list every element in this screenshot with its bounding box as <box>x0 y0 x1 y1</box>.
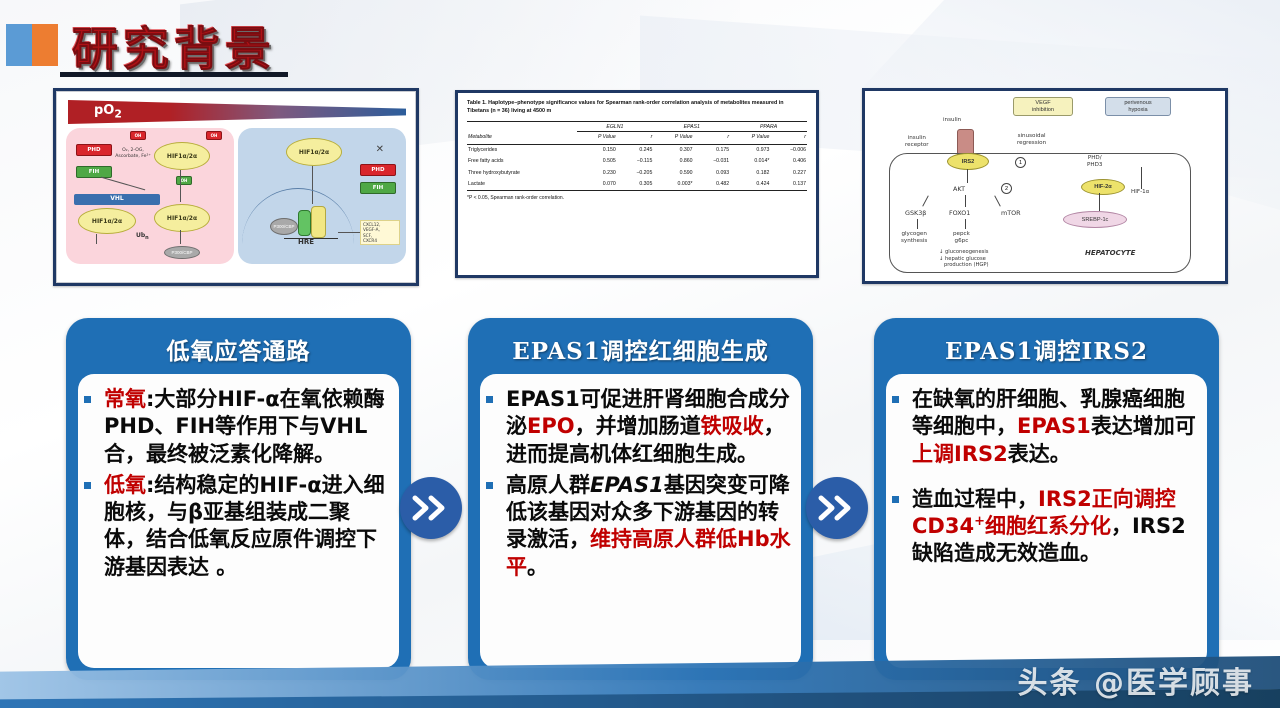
cell: 0.150 <box>577 144 617 156</box>
cell: 0.505 <box>577 156 617 167</box>
marker-1: 1 <box>1015 157 1026 168</box>
logo-orange-block <box>32 24 58 66</box>
table-group-header-row: EGLN1 EPAS1 PPARA <box>467 122 807 132</box>
ubn-label: Ubn <box>136 232 149 241</box>
bullet-gene-name: EPAS1 <box>590 473 664 497</box>
cell: 0.860 <box>653 156 693 167</box>
bullet-text: 表达增加可 <box>1091 414 1196 438</box>
spearman-table: EGLN1 EPAS1 PPARA Metabolite P Value r P… <box>467 121 807 191</box>
group-blank <box>467 122 577 132</box>
cell: 0.424 <box>730 179 770 191</box>
hif1b-cap <box>298 210 311 236</box>
cell: −0.205 <box>617 167 654 178</box>
figure-hepatocyte: VEGFinhibition perivenoushypoxia insulin… <box>862 88 1228 284</box>
arrow-degrade <box>96 234 97 244</box>
arrow-to-vhl <box>101 177 145 191</box>
perivenous-hypoxia-box: perivenoushypoxia <box>1105 97 1171 116</box>
slide-root: 研究背景 pO2 PHD FIH O₂, 2-OG,Ascorbate, Fe²… <box>0 0 1280 720</box>
cell: 0.245 <box>617 144 654 156</box>
glycogen-synthesis-label: glycogensynthesis <box>901 231 927 245</box>
inhibition-cross: ✕ <box>376 144 384 157</box>
cell: 0.482 <box>694 179 731 191</box>
hepatocyte-outline <box>889 153 1191 273</box>
insulin-receptor-label: insulinreceptor <box>905 135 929 149</box>
cell: 0.093 <box>694 167 731 178</box>
bullet-highlight: 细胞红系分化 <box>985 514 1111 538</box>
col-p3: P Value <box>730 132 770 144</box>
p300-cbp-oval: P300/CBP <box>270 218 298 235</box>
col-p1: P Value <box>577 132 617 144</box>
vhl-bar: VHL <box>74 194 160 205</box>
figure-row: pO2 PHD FIH O₂, 2-OG,Ascorbate, Fe²⁺ HIF… <box>0 88 1280 303</box>
fih-pill: FIH <box>76 166 112 178</box>
hif-oval-top: HIF1α/2α <box>154 142 210 170</box>
card-bullet: 在缺氧的肝细胞、乳腺癌细胞等细胞中，EPAS1表达增加可上调IRS2表达。 <box>896 386 1197 468</box>
hepatocyte-label: HEPATOCYTE <box>1085 249 1135 258</box>
title-underline-rule <box>60 72 288 77</box>
bullet-text: :结构稳定的HIF-α进入细胞核，与β亚基组装成二聚体，结合低氧反应原件调控下游… <box>104 473 385 579</box>
bullet-highlight: 常氧 <box>104 387 146 411</box>
card-bullet: 低氧:结构稳定的HIF-α进入细胞核，与β亚基组装成二聚体，结合低氧反应原件调控… <box>88 472 389 581</box>
cell: Triglycerides <box>467 144 577 156</box>
chevron-right-icon-1 <box>400 477 462 539</box>
arrow-down-mid-2 <box>180 230 181 244</box>
marker-2: 2 <box>1001 183 1012 194</box>
pepck-g6pc-label: pepckg6pc <box>953 231 970 245</box>
cell: Lactate <box>467 179 577 191</box>
group-egln1: EGLN1 <box>577 122 654 132</box>
hif1a-label: HIF-1α <box>1131 189 1149 196</box>
cell: −0.115 <box>617 156 654 167</box>
cell: 0.003* <box>653 179 693 191</box>
phd-phd3-label: PHD/PHD3 <box>1087 155 1102 169</box>
line-akt-foxo1 <box>965 195 966 207</box>
table-row: Lactate 0.070 0.305 0.003* 0.482 0.424 0… <box>467 179 807 191</box>
po2-label: pO2 <box>94 103 122 121</box>
cell: 0.307 <box>653 144 693 156</box>
card-hypoxia-response-pathway[interactable]: 低氧应答通路 常氧:大部分HIF-α在氧依赖酶PHD、FIH等作用下与VHL合，… <box>66 318 411 680</box>
cell: 0.230 <box>577 167 617 178</box>
irs2-oval: IRS2 <box>947 153 989 170</box>
logo-blue-block <box>6 24 32 66</box>
cell: 0.175 <box>694 144 731 156</box>
col-r3: r <box>770 132 807 144</box>
foxo1-label: FOXO1 <box>949 209 970 217</box>
hypoxia-panel: HIF1α/2α PHD FIH ✕ P300/CBP HRE CXCL12,V… <box>238 128 406 264</box>
table-row: Free fatty acids 0.505 −0.115 0.860 −0.0… <box>467 156 807 167</box>
page-title: 研究背景 <box>72 13 276 79</box>
card-bullet: EPAS1可促进肝肾细胞合成分泌EPO，并增加肠道铁吸收，进而提高机体红细胞生成… <box>490 386 791 468</box>
cell: 0.590 <box>653 167 693 178</box>
normoxia-panel: PHD FIH O₂, 2-OG,Ascorbate, Fe²⁺ HIF1α/2… <box>66 128 234 264</box>
logo <box>6 24 58 66</box>
bullet-highlight: 铁吸收 <box>701 414 764 438</box>
band-layer-3 <box>0 708 1280 720</box>
card-bullet: 常氧:大部分HIF-α在氧依赖酶PHD、FIH等作用下与VHL合，最终被泛素化降… <box>88 386 389 468</box>
vegf-inhibition-box: VEGFinhibition <box>1013 97 1073 116</box>
arrow-down-mid <box>180 170 181 202</box>
cell: 0.137 <box>770 179 807 191</box>
cell: 0.305 <box>617 179 654 191</box>
figure-hif-pathway: pO2 PHD FIH O₂, 2-OG,Ascorbate, Fe²⁺ HIF… <box>53 88 419 286</box>
bullet-text: 。 <box>527 555 548 579</box>
oh-tag-3: OH <box>176 176 192 185</box>
table-column-header-row: Metabolite P Value r P Value r P Value r <box>467 132 807 144</box>
line-phd-hif1a <box>1141 167 1142 189</box>
group-ppara: PPARA <box>730 122 807 132</box>
col-r1: r <box>617 132 654 144</box>
col-metabolite: Metabolite <box>467 132 577 144</box>
oh-tag-1: OH <box>130 131 146 140</box>
card-title: EPAS1调控IRS2 <box>874 318 1219 366</box>
po2-gradient-bar: pO2 <box>68 100 406 124</box>
bullet-text: 造血过程中， <box>912 487 1038 511</box>
srebp1c-oval: SREBP-1c <box>1063 211 1127 228</box>
cell: Free fatty acids <box>467 156 577 167</box>
bullet-text: ，并增加肠道 <box>575 414 701 438</box>
bullet-text: 表达。 <box>1008 442 1071 466</box>
cell: 0.070 <box>577 179 617 191</box>
cell: 0.182 <box>730 167 770 178</box>
hif2a-oval: HIF-2α <box>1081 179 1125 195</box>
sinusoidal-regression-label: sinusoidalregression <box>1017 133 1046 147</box>
cell: −0.006 <box>770 144 807 156</box>
cell: Three hydroxybutyrate <box>467 167 577 178</box>
card-title: 低氧应答通路 <box>66 318 411 366</box>
cell: 0.227 <box>770 167 807 178</box>
col-p2: P Value <box>653 132 693 144</box>
table-row: Three hydroxybutyrate 0.230 −0.205 0.590… <box>467 167 807 178</box>
bullet-highlight: EPAS1 <box>1017 414 1091 438</box>
card-body: 在缺氧的肝细胞、乳腺癌细胞等细胞中，EPAS1表达增加可上调IRS2表达。 造血… <box>886 374 1207 668</box>
hif-oval-hypoxia: HIF1α/2α <box>286 138 342 166</box>
table-title: Table 1. Haplotype–phenotype significanc… <box>467 100 807 115</box>
bullet-highlight: 上调IRS2 <box>912 442 1008 466</box>
phd-pill: PHD <box>76 144 112 156</box>
cell: 0.973 <box>730 144 770 156</box>
card-title: EPAS1调控红细胞生成 <box>468 318 813 366</box>
hif-oval-degraded: HIF1α/2α <box>78 208 136 234</box>
card-epas1-erythropoiesis[interactable]: EPAS1调控红细胞生成 EPAS1可促进肝肾细胞合成分泌EPO，并增加肠道铁吸… <box>468 318 813 680</box>
p300-cbp-oval-left: P300/CBP <box>164 246 200 259</box>
line-foxo1-pepck <box>965 219 966 229</box>
line-hif2a-srebp <box>1099 193 1100 211</box>
gluconeogenesis-label: ↓ gluconeogenesis↓ hepatic glucose produ… <box>939 249 989 269</box>
insulin-label: insulin <box>943 117 961 124</box>
arrow-to-targets <box>338 232 360 233</box>
line-irs2-akt <box>967 169 968 183</box>
bullet-superscript: + <box>974 514 985 529</box>
fih-pill-right: FIH <box>360 182 396 194</box>
cell: −0.031 <box>694 156 731 167</box>
card-bullet: 造血过程中，IRS2正向调控CD34+细胞红系分化，IRS2缺陷造成无效造血。 <box>896 486 1197 568</box>
gsk3b-label: GSK3β <box>905 209 926 217</box>
card-body: EPAS1可促进肝肾细胞合成分泌EPO，并增加肠道铁吸收，进而提高机体红细胞生成… <box>480 374 801 668</box>
group-epas1: EPAS1 <box>653 122 730 132</box>
hre-label: HRE <box>298 238 314 247</box>
card-body: 常氧:大部分HIF-α在氧依赖酶PHD、FIH等作用下与VHL合，最终被泛素化降… <box>78 374 399 668</box>
cell: 0.014* <box>730 156 770 167</box>
bullet-text: 高原人群 <box>506 473 590 497</box>
oh-tag-2: OH <box>206 131 222 140</box>
bullet-highlight: 低氧 <box>104 473 146 497</box>
akt-label: AKT <box>953 185 965 193</box>
card-bullet: 高原人群EPAS1基因突变可降低该基因对众多下游基因的转录激活，维持高原人群低H… <box>490 472 791 581</box>
table-footnote: *P < 0.05, Spearman rank-order correlati… <box>467 195 807 202</box>
watermark: 头条 @医学顾事 <box>1018 658 1254 702</box>
bullet-highlight: EPO <box>527 414 575 438</box>
bullet-text: :大部分HIF-α在氧依赖酶PHD、FIH等作用下与VHL合，最终被泛素化降解。 <box>104 387 385 466</box>
figure-spearman-table: Table 1. Haplotype–phenotype significanc… <box>455 90 819 278</box>
hif-alpha-cap <box>311 206 326 238</box>
line-gsk3b-glycogen <box>917 219 918 229</box>
table-row: Triglycerides 0.150 0.245 0.307 0.175 0.… <box>467 144 807 156</box>
phd-pill-right: PHD <box>360 164 396 176</box>
chevron-right-icon-2 <box>806 477 868 539</box>
cofactor-label: O₂, 2-OG,Ascorbate, Fe²⁺ <box>112 148 154 159</box>
cell: 0.406 <box>770 156 807 167</box>
hif-oval-mid: HIF1α/2α <box>154 204 210 232</box>
mtor-label: mTOR <box>1001 209 1021 217</box>
card-epas1-irs2[interactable]: EPAS1调控IRS2 在缺氧的肝细胞、乳腺癌细胞等细胞中，EPAS1表达增加可… <box>874 318 1219 680</box>
col-r2: r <box>694 132 731 144</box>
target-genes-label: CXCL12,VEGF-A,SCF,CXCR4 <box>360 220 400 245</box>
